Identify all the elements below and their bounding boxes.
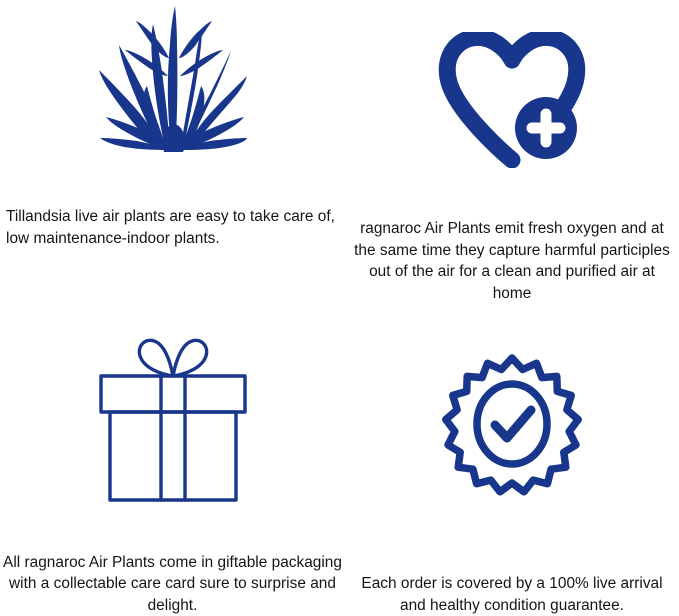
checkmark-icon [495, 410, 531, 438]
seal-circle [477, 384, 547, 464]
gift-box-icon [94, 334, 252, 504]
verified-badge-icon [442, 352, 582, 520]
bow-loop-left [139, 340, 173, 376]
icon-container [0, 308, 345, 504]
gift-lid [101, 376, 245, 412]
icon-container [345, 0, 679, 168]
feature-description: ragnaroc Air Plants emit fresh oxygen an… [353, 168, 671, 304]
gift-body [110, 412, 236, 500]
icon-container [345, 308, 679, 520]
bow-loop-right [173, 340, 207, 376]
feature-description: Tillandsia live air plants are easy to t… [0, 154, 345, 249]
seal-starburst [446, 358, 578, 492]
feature-card-guarantee: Each order is covered by a 100% live arr… [345, 308, 679, 616]
icon-container [0, 0, 345, 154]
air-plant-icon [98, 4, 248, 154]
feature-description: All ragnaroc Air Plants come in giftable… [3, 504, 343, 616]
feature-grid: Tillandsia live air plants are easy to t… [0, 0, 679, 616]
gift-ribbon [161, 376, 185, 500]
feature-card-air-plant: Tillandsia live air plants are easy to t… [0, 0, 345, 308]
feature-description: Each order is covered by a 100% live arr… [352, 520, 672, 616]
feature-card-air-quality: ragnaroc Air Plants emit fresh oxygen an… [345, 0, 679, 308]
feature-card-gift-packaging: All ragnaroc Air Plants come in giftable… [0, 308, 345, 616]
heart-plus-icon [436, 32, 588, 168]
